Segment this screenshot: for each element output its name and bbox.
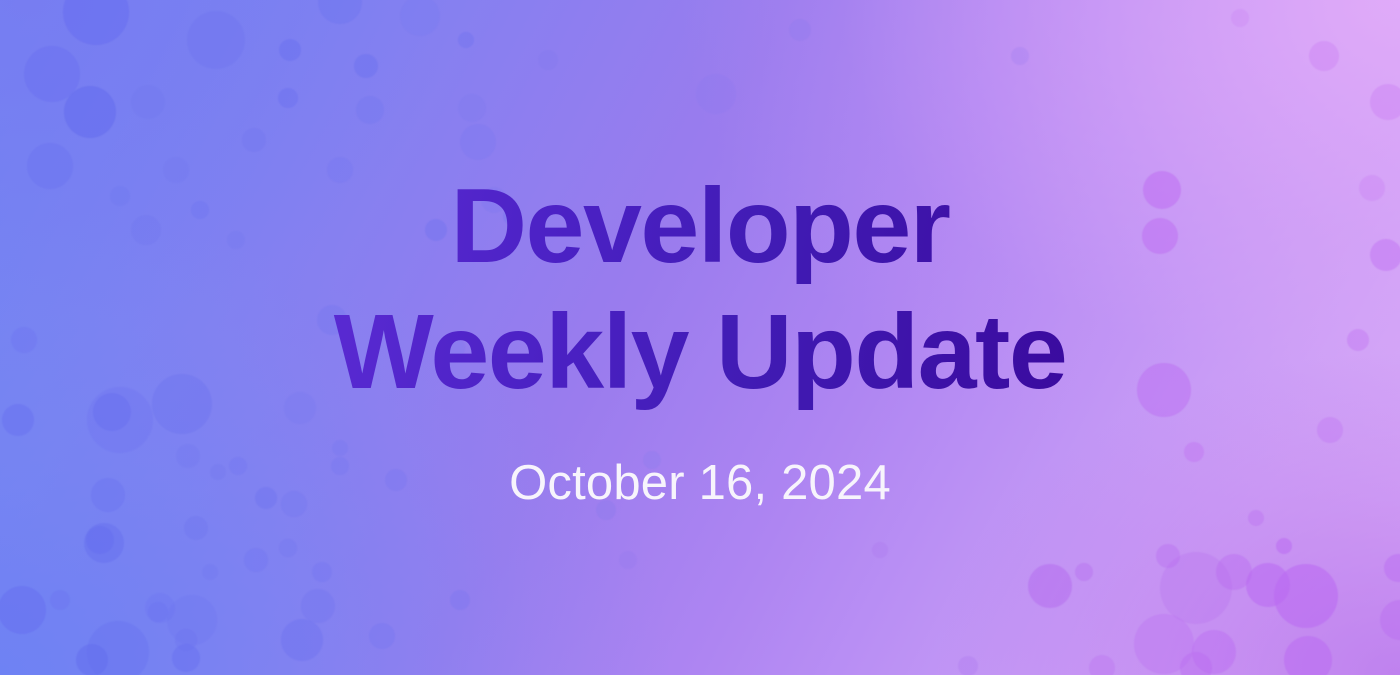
page-title-line-1: Developer xyxy=(334,164,1067,289)
page-title: Developer Weekly Update xyxy=(324,164,1077,420)
issue-date: October 16, 2024 xyxy=(509,455,891,511)
banner-content: Developer Weekly Update October 16, 2024 xyxy=(0,0,1400,675)
weekly-update-banner: Developer Weekly Update October 16, 2024 xyxy=(0,0,1400,675)
page-title-line-2: Weekly Update xyxy=(334,290,1067,415)
